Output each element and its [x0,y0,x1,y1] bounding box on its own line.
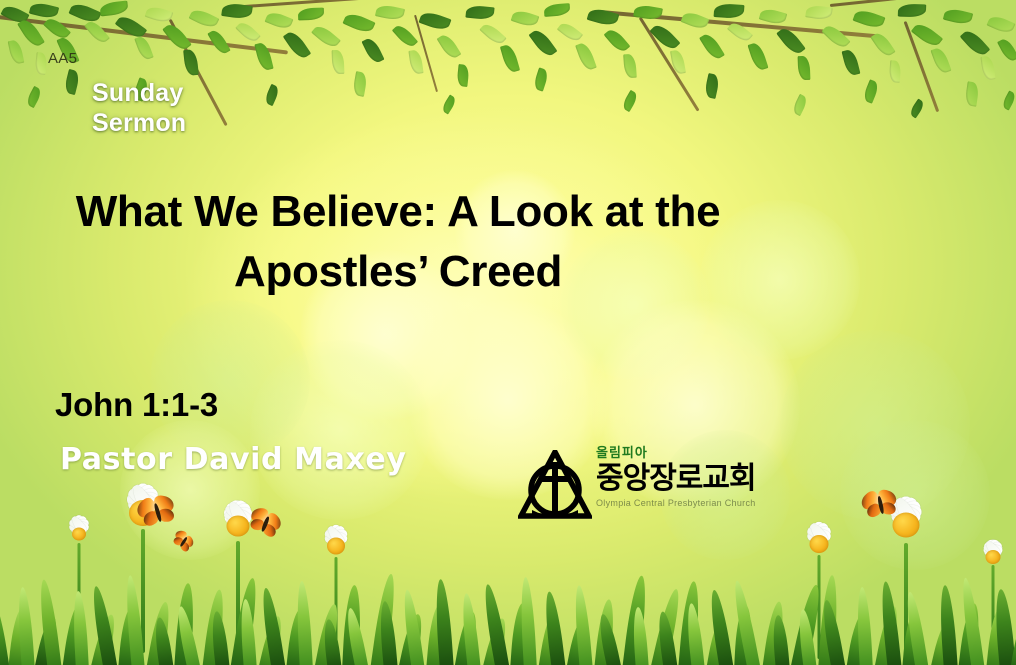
logo-korean-main: 중앙장로교회 [596,461,786,497]
church-logo-text: 올림피아 중앙장로교회 Olympia Central Presbyterian… [596,446,786,509]
church-logo: 올림피아 중앙장로교회 Olympia Central Presbyterian… [518,446,786,526]
slide-tag-label: AA5 [48,50,77,67]
title-line-2: Apostles’ Creed [58,242,738,302]
speaker-name: Pastor David Maxey [60,442,407,477]
sermon-kicker: Sunday Sermon [92,78,322,138]
scripture-reference: John 1:1-3 [55,386,218,424]
bokeh-blob [150,300,310,460]
daisy-flower [780,525,858,655]
title-line-1: What We Believe: A Look at the [58,182,738,242]
logo-english-name: Olympia Central Presbyterian Church [596,497,786,509]
kicker-line-2: Sermon [92,108,322,138]
kicker-line-1: Sunday [92,78,322,108]
meadow-decor [0,475,1016,665]
sermon-slide: AA5 Sunday Sermon What We Believe: A Loo… [0,0,1016,665]
sermon-title: What We Believe: A Look at the Apostles’… [58,182,738,302]
church-triangle-cross-emblem [518,450,592,522]
logo-korean-small: 올림피아 [596,446,786,461]
